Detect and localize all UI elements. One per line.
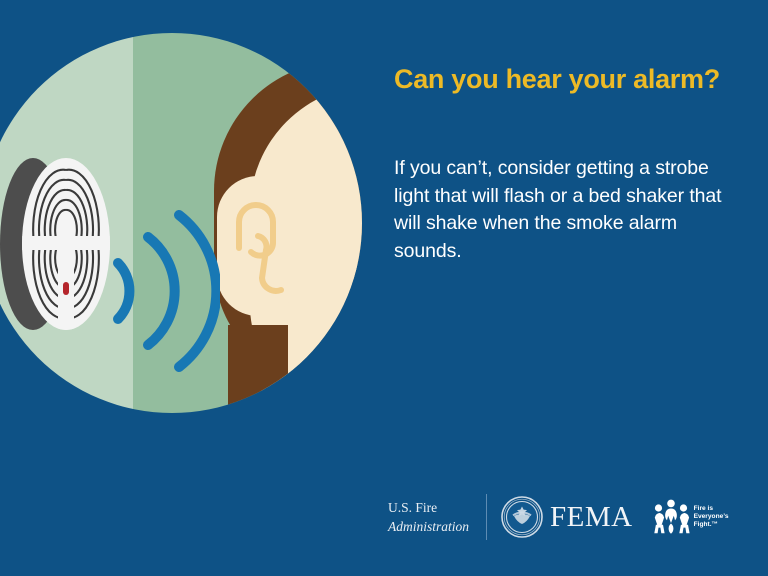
- smoke-alarm-vents: [22, 158, 110, 330]
- campaign-line-1: Fire is: [694, 505, 729, 513]
- usfa-line-1: U.S. Fire: [388, 498, 480, 517]
- dhs-seal-icon: [501, 496, 543, 538]
- page-title: Can you hear your alarm?: [394, 62, 724, 96]
- footer-divider: [486, 494, 487, 540]
- fema-lockup: FEMA: [501, 496, 633, 538]
- campaign-line-3: Fight.™: [694, 521, 729, 529]
- fema-wordmark: FEMA: [550, 501, 633, 534]
- illustration-circle: [0, 33, 362, 413]
- ear-inner-detail: [217, 176, 299, 316]
- usfa-wordmark: U.S. Fire Administration: [388, 498, 480, 536]
- three-figures-flame-icon: [651, 499, 691, 535]
- fire-is-everyones-fight-logo: Fire is Everyone’s Fight.™: [651, 499, 729, 535]
- footer-logo-bar: U.S. Fire Administration FEMA: [388, 484, 750, 550]
- sound-waves-icon: [100, 201, 220, 381]
- campaign-line-2: Everyone’s: [694, 513, 729, 521]
- circle-clip: [0, 33, 362, 413]
- campaign-tagline: Fire is Everyone’s Fight.™: [694, 505, 729, 530]
- head-neck-shadow: [228, 325, 288, 413]
- smoke-alarm-led: [63, 282, 69, 295]
- body-copy: If you can’t, consider getting a strobe …: [394, 155, 730, 266]
- smoke-alarm-device: [0, 158, 110, 330]
- public-safety-poster: Can you hear your alarm? If you can’t, c…: [0, 0, 768, 576]
- smoke-alarm-face: [22, 158, 110, 330]
- usfa-line-2: Administration: [388, 517, 480, 536]
